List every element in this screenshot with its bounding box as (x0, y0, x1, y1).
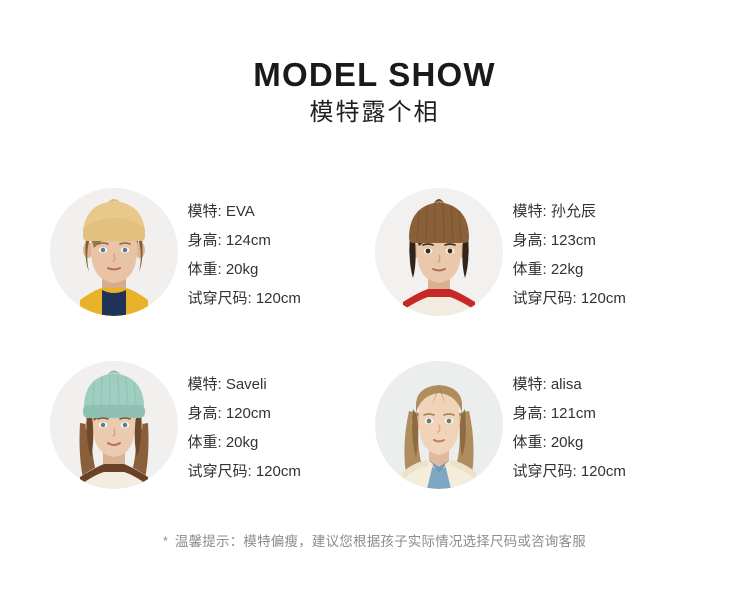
model-weight-line: 体重: 20kg (188, 428, 301, 457)
model-photo-eva (50, 188, 178, 316)
model-photo-sunyunchen (375, 188, 503, 316)
model-card: 模特: alisa 身高: 121cm 体重: 20kg 试穿尺码: 120cm (375, 344, 700, 517)
model-size-line: 试穿尺码: 120cm (513, 457, 626, 486)
model-name-line: 模特: 孙允辰 (513, 197, 626, 226)
model-size-line: 试穿尺码: 120cm (188, 457, 301, 486)
model-weight-line: 体重: 20kg (513, 428, 626, 457)
page-subtitle: 模特露个相 (0, 96, 749, 130)
model-name-line: 模特: alisa (513, 370, 626, 399)
model-card: 模特: 孙允辰 身高: 123cm 体重: 22kg 试穿尺码: 120cm (375, 171, 700, 344)
model-name-line: 模特: EVA (188, 197, 301, 226)
model-height-line: 身高: 121cm (513, 399, 626, 428)
model-info: 模特: EVA 身高: 124cm 体重: 20kg 试穿尺码: 120cm (188, 188, 301, 313)
page-header: MODEL SHOW 模特露个相 (0, 0, 749, 130)
model-weight-line: 体重: 22kg (513, 255, 626, 284)
model-photo-saveli (50, 361, 178, 489)
model-name-line: 模特: Saveli (188, 370, 301, 399)
model-photo-alisa (375, 361, 503, 489)
model-info: 模特: 孙允辰 身高: 123cm 体重: 22kg 试穿尺码: 120cm (513, 188, 626, 313)
page-title: MODEL SHOW (0, 55, 749, 95)
model-card: 模特: EVA 身高: 124cm 体重: 20kg 试穿尺码: 120cm (50, 171, 375, 344)
model-card: 模特: Saveli 身高: 120cm 体重: 20kg 试穿尺码: 120c… (50, 344, 375, 517)
model-height-line: 身高: 123cm (513, 226, 626, 255)
model-height-line: 身高: 120cm (188, 399, 301, 428)
model-grid: 模特: EVA 身高: 124cm 体重: 20kg 试穿尺码: 120cm (0, 171, 749, 517)
model-size-line: 试穿尺码: 120cm (188, 284, 301, 313)
model-info: 模特: alisa 身高: 121cm 体重: 20kg 试穿尺码: 120cm (513, 361, 626, 486)
model-size-line: 试穿尺码: 120cm (513, 284, 626, 313)
model-weight-line: 体重: 20kg (188, 255, 301, 284)
footer-note-text: 温馨提示：模特偏瘦，建议您根据孩子实际情况选择尺码或咨询客服 (175, 534, 586, 549)
asterisk-icon: * (163, 534, 168, 548)
footer-note: * 温馨提示：模特偏瘦，建议您根据孩子实际情况选择尺码或咨询客服 (0, 530, 749, 553)
model-info: 模特: Saveli 身高: 120cm 体重: 20kg 试穿尺码: 120c… (188, 361, 301, 486)
model-height-line: 身高: 124cm (188, 226, 301, 255)
